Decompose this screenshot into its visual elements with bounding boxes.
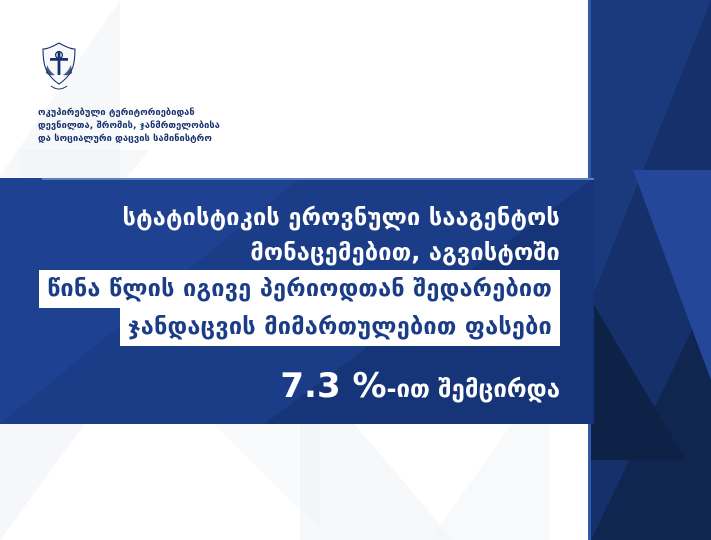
headline-line-2-wrap: მონაცემებით, აგვისტოში [34, 235, 560, 270]
figure-value: 7.3 % [280, 366, 386, 406]
headline-figure: 7.3 %-ით შემცირდა [280, 366, 560, 406]
headline-line-1: სტატისტიკის ეროვნული სააგენტოს [34, 200, 560, 235]
headline-block: სტატისტიკის ეროვნული სააგენტოს მონაცემებ… [0, 178, 594, 424]
band-shade [591, 300, 686, 460]
ministry-name-line-3: და სოციალური დაცვის სამინისტრო [38, 132, 368, 145]
bottom-strip [0, 424, 591, 540]
infographic-canvas: ოკუპირებული ტერიტორიებიდან დევნილთა, შრო… [0, 0, 711, 540]
headline-line-3: წინა წლის იგივე პერიოდთან შედარებით [39, 270, 560, 308]
right-blue-band [591, 0, 711, 540]
headline-line-4: ჯანდაცვის მიმართულებით ფასები [120, 308, 560, 346]
ministry-name: ოკუპირებული ტერიტორიებიდან დევნილთა, შრო… [38, 106, 368, 145]
ministry-identity: ოკუპირებული ტერიტორიებიდან დევნილთა, შრო… [38, 40, 368, 145]
ministry-name-line-2: დევნილთა, შრომის, ჯანმრთელობისა [38, 119, 368, 132]
figure-suffix: -ით შემცირდა [387, 375, 560, 403]
georgia-coat-of-arms-icon [38, 40, 80, 96]
headline-line-1-wrap: სტატისტიკის ეროვნული სააგენტოს [34, 200, 560, 235]
headline-line-4-wrap: ჯანდაცვის მიმართულებით ფასები [34, 308, 560, 346]
headline-line-3-wrap: წინა წლის იგივე პერიოდთან შედარებით [34, 270, 560, 308]
headline-line-2: მონაცემებით, აგვისტოში [34, 235, 560, 270]
ministry-name-line-1: ოკუპირებული ტერიტორიებიდან [38, 106, 368, 119]
